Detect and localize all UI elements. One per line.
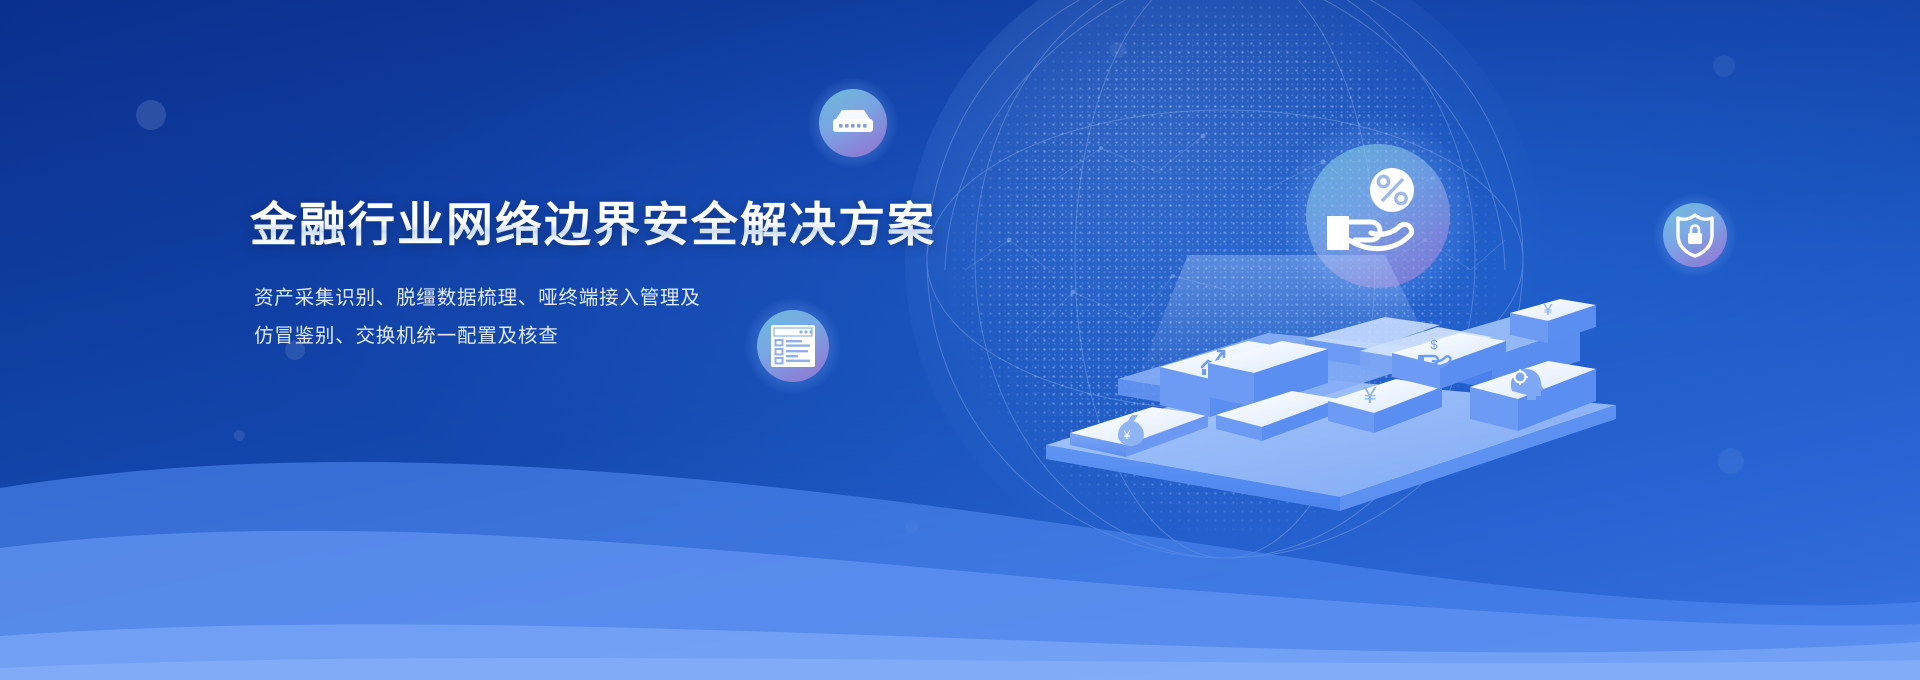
wave-svg bbox=[0, 380, 1920, 680]
router-icon-badge bbox=[808, 78, 898, 168]
subtitle-line-1: 资产采集识别、脱缰数据梳理、哑终端接入管理及 bbox=[254, 279, 970, 317]
page-title: 金融行业网络边界安全解决方案 bbox=[250, 196, 970, 253]
banner-subtitle: 资产采集识别、脱缰数据梳理、哑终端接入管理及 仿冒鉴别、交换机统一配置及核查 bbox=[254, 279, 970, 355]
router-icon bbox=[830, 106, 876, 140]
shield-lock-icon-badge bbox=[1653, 193, 1737, 277]
shield-lock-icon bbox=[1675, 212, 1715, 258]
bokeh-dot bbox=[136, 100, 166, 130]
bottom-waves bbox=[0, 380, 1920, 680]
banner-copy: 金融行业网络边界安全解决方案 资产采集识别、脱缰数据梳理、哑终端接入管理及 仿冒… bbox=[250, 196, 970, 355]
svg-text:$: $ bbox=[1430, 337, 1438, 352]
subtitle-line-2: 仿冒鉴别、交换机统一配置及核查 bbox=[254, 317, 970, 355]
finance-security-banner: ¥ bbox=[0, 0, 1920, 680]
bokeh-dot bbox=[1713, 55, 1735, 77]
percent-hand-icon bbox=[1325, 168, 1435, 258]
yen-block-icon: ¥ bbox=[1543, 302, 1553, 319]
